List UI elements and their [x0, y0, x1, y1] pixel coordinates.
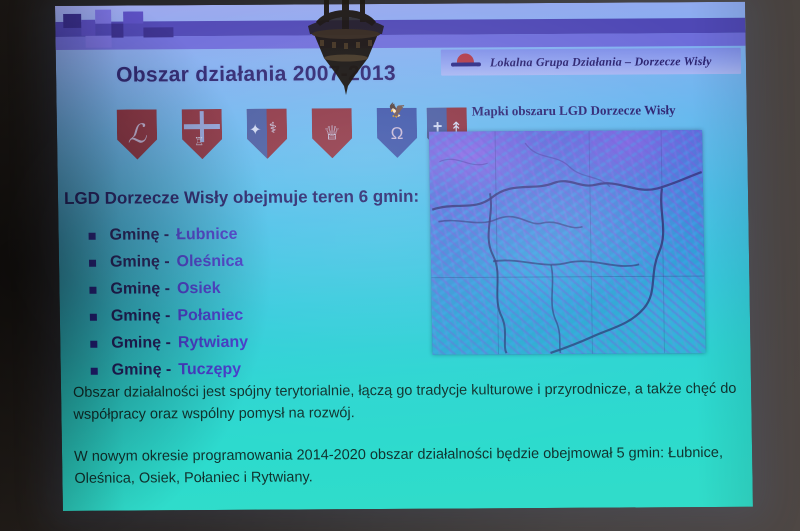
bullet-label: Gminę -: [110, 280, 170, 298]
logo-text: Lokalna Grupa Działania – Dorzecze Wisły: [490, 53, 712, 69]
double-cross-icon: ⚕: [269, 119, 277, 137]
bullet-label: Gminę -: [111, 334, 171, 352]
pixel-block: [95, 10, 111, 24]
bullet-square-icon: [91, 367, 98, 374]
bullet-label: Gminę -: [112, 361, 172, 379]
presentation-slide: Obszar działania 2007-2013 Lokalna Grupa…: [55, 2, 753, 511]
list-item: Gminę - Tuczępy: [91, 357, 431, 383]
list-item: Gminę - Osiek: [89, 276, 429, 302]
lubnice-crest: ℒ: [117, 109, 158, 159]
olesnica-crest: ♖: [182, 109, 223, 159]
pixel-block: [85, 36, 111, 48]
shield-shape: ✦ ⚕: [247, 109, 288, 159]
municipality-list: Gminę - Łubnice Gminę - Oleśnica Gminę -…: [88, 222, 431, 386]
sun-over-water-emblem-icon: [449, 52, 483, 72]
griffin-icon: ✦: [249, 121, 262, 139]
bird-icon: 🦅: [389, 102, 407, 119]
bullet-square-icon: [89, 259, 96, 266]
pixel-block: [111, 24, 123, 38]
bullet-value: Rytwiany: [178, 334, 249, 352]
bullet-value: Połaniec: [177, 307, 243, 325]
water-highlight-shape: [453, 66, 478, 69]
bullet-value: Oleśnica: [176, 253, 243, 271]
pixel-block: [81, 20, 95, 36]
bullet-square-icon: [90, 313, 97, 320]
list-item: Gminę - Oleśnica: [89, 249, 429, 275]
bullet-square-icon: [90, 340, 97, 347]
pixel-block: [123, 11, 143, 23]
bullet-value: Tuczępy: [178, 361, 241, 379]
shield-shape: ♖: [182, 109, 223, 159]
crown-icon: ♖: [194, 135, 204, 148]
coat-of-arms-row: ℒ ♖ ✦ ⚕: [67, 104, 448, 168]
shield-shape: ♕: [312, 108, 353, 158]
lgd-logo: Lokalna Grupa Działania – Dorzecze Wisły: [441, 48, 741, 76]
slide-title: Obszar działania 2007-2013: [116, 62, 396, 88]
pixel-block: [63, 14, 81, 28]
rytwiany-crest: Ω 🦅: [377, 108, 418, 158]
paragraph-new-period: W nowym okresie programowania 2014-2020 …: [74, 442, 743, 491]
list-item: Gminę - Rytwiany: [90, 330, 430, 356]
area-map-image: [429, 130, 706, 355]
bullet-value: Osiek: [177, 280, 221, 298]
bullet-value: Łubnice: [176, 226, 238, 244]
list-item: Gminę - Łubnice: [88, 222, 428, 248]
bullet-label: Gminę -: [111, 307, 171, 325]
osiek-crest: ✦ ⚕: [247, 109, 288, 159]
bullet-label: Gminę -: [110, 253, 170, 271]
map-caption: Mapki obszaru LGD Dorzecze Wisły: [472, 102, 676, 119]
eagle-icon: ♕: [312, 108, 353, 158]
shield-shape: ℒ: [117, 109, 158, 159]
cross-horizontal-icon: [184, 124, 219, 129]
bullet-square-icon: [89, 232, 96, 239]
bullet-label: Gminę -: [109, 226, 169, 244]
list-item: Gminę - Połaniec: [90, 303, 430, 329]
bullet-square-icon: [89, 286, 96, 293]
polaniec-crest: ♕: [312, 108, 353, 158]
projection-screen: Obszar działania 2007-2013 Lokalna Grupa…: [55, 2, 753, 511]
sun-shape: [457, 53, 474, 62]
l-monogram-icon: ℒ: [117, 109, 158, 159]
map-boundary-lines: [429, 130, 706, 355]
room-wall: Obszar działania 2007-2013 Lokalna Grupa…: [0, 0, 800, 531]
paragraph-cohesion: Obszar działalności jest spójny terytori…: [73, 378, 742, 427]
section-heading: LGD Dorzecze Wisły obejmuje teren 6 gmin…: [58, 187, 454, 209]
pixel-block: [143, 27, 173, 37]
